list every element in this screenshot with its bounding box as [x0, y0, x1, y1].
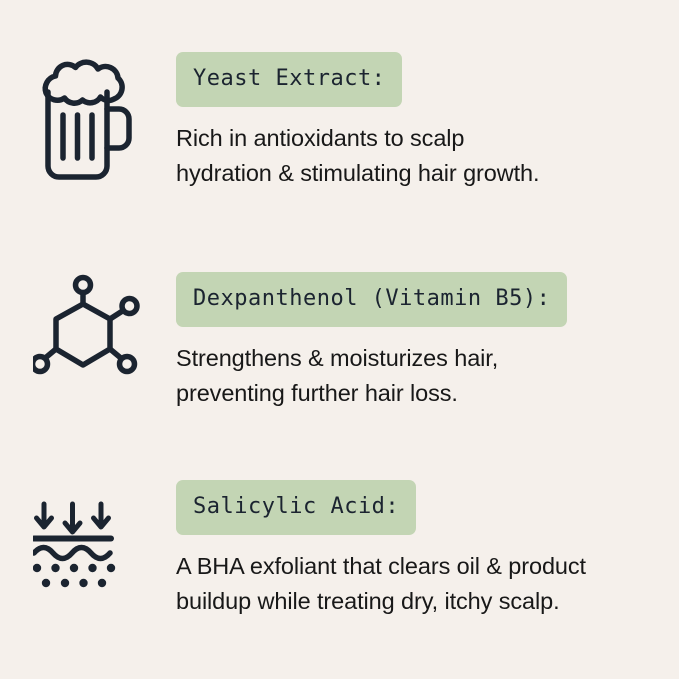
ingredient-description: Strengthens & moisturizes hair, preventi…	[176, 341, 498, 411]
ingredient-description: Rich in antioxidants to scalp hydration …	[176, 121, 539, 191]
ingredient-benefits-panel: Yeast Extract: Rich in antioxidants to s…	[0, 0, 679, 679]
icon-container-exfoliation	[0, 480, 176, 592]
ingredient-title-chip: Dexpanthenol (Vitamin B5):	[176, 272, 567, 327]
ingredient-title-chip: Yeast Extract:	[176, 52, 402, 107]
ingredient-row: Dexpanthenol (Vitamin B5): Strengthens &…	[0, 272, 679, 411]
icon-container-beer-mug	[0, 52, 176, 192]
icon-container-molecule	[0, 272, 176, 384]
ingredient-text-block: Salicylic Acid: A BHA exfoliant that cle…	[176, 480, 679, 619]
ingredient-row: Yeast Extract: Rich in antioxidants to s…	[0, 52, 679, 192]
beer-mug-icon	[33, 52, 137, 192]
ingredient-title-chip: Salicylic Acid:	[176, 480, 416, 535]
exfoliation-scalp-icon	[33, 480, 129, 592]
ingredient-text-block: Dexpanthenol (Vitamin B5): Strengthens &…	[176, 272, 679, 411]
ingredient-text-block: Yeast Extract: Rich in antioxidants to s…	[176, 52, 679, 191]
ingredient-row: Salicylic Acid: A BHA exfoliant that cle…	[0, 480, 679, 619]
ingredient-description: A BHA exfoliant that clears oil & produc…	[176, 549, 586, 619]
molecule-icon	[33, 272, 145, 384]
